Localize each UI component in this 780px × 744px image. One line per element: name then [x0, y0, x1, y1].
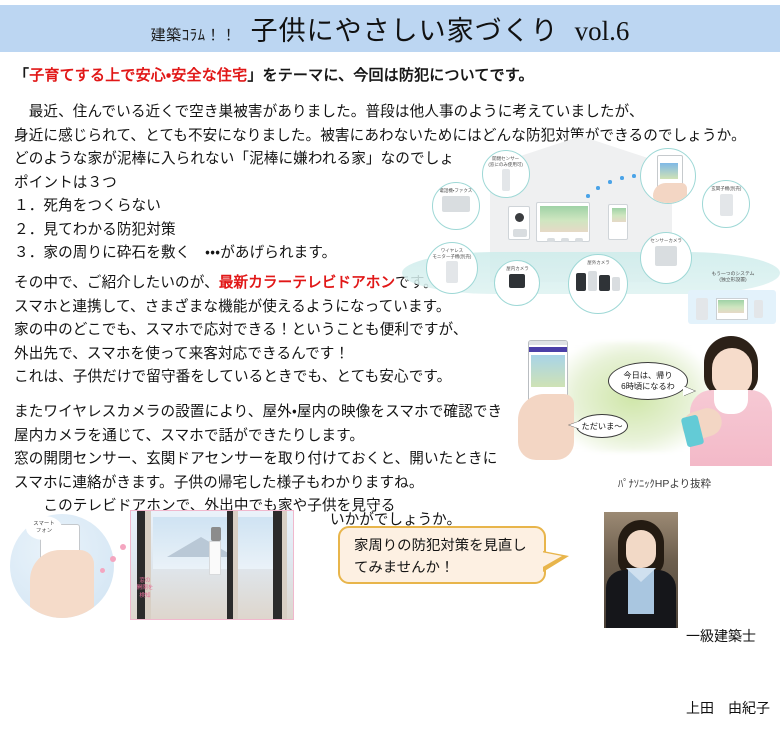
label-outdoor-camera: 屋外カメラ [587, 260, 610, 265]
lede-line: 「子育てする上で安心・安全な住宅」をテーマに、今回は防犯についてです。 [14, 64, 534, 85]
speech-bubble-child: ただいま～ [576, 414, 628, 438]
door-speaker-grille [513, 229, 527, 237]
banner-kicker: 建築ｺﾗﾑ！！ [151, 24, 237, 45]
label-wireless-monitor: ワイヤレス モニター子機(別売) [432, 248, 471, 259]
node-wireless-monitor: ワイヤレス モニター子機(別売) [426, 242, 478, 294]
fax-device-icon [442, 196, 470, 212]
node-entrance-subunit: 玄関子機(別売) [702, 180, 750, 228]
window-sensor-note: 窓の 開閉を 検知 [130, 578, 160, 600]
door-station [508, 206, 530, 240]
page-header-banner: 建築ｺﾗﾑ！！ 子供にやさしい家づくり vol.6 [0, 5, 780, 52]
p3-line-1: またワイヤレスカメラの設置により、屋外・屋内の映像をスマホで確認でき [14, 401, 502, 425]
smartphone-screen [660, 163, 678, 179]
callout-bubble: 家周りの防犯対策を見直してみませんか！ [338, 526, 546, 584]
woman-photo-group [682, 334, 780, 466]
node-open-close-sensor: 開閉センサー (窓にのみ使用可) [482, 150, 530, 198]
p1-line-1: 最近、住んでいる近くで空き巣被害がありました。普段は他人事のように考えていました… [14, 101, 746, 125]
phone-status-bar [529, 341, 567, 345]
sub-monitor-screen [612, 208, 626, 222]
outdoor-camera-icon [576, 273, 586, 291]
p2-line-1: その中で、ご紹介したいのが、最新カラーテレビドアホンです。 [14, 272, 468, 296]
connection-dot [586, 194, 590, 198]
wireless-monitor-icon [446, 261, 458, 283]
author-qualification: 一級建築士 [686, 624, 770, 648]
label-another-system: もう一つのシステム (独立形設置) [688, 272, 778, 284]
window-open-close-sensor [209, 541, 221, 575]
label-entrance-subunit: 玄関子機(別売) [711, 186, 741, 191]
lede-after: をテーマに、今回は [263, 67, 399, 84]
author-portrait [604, 512, 678, 628]
hand-shape [518, 394, 574, 460]
monitor-button [561, 238, 569, 242]
outdoor-camera-group [576, 269, 620, 291]
p2-line-5: これは、子供だけで留守番をしているときでも、とても安心です。 [14, 366, 468, 390]
p2-line-4: 外出先で、スマホを使って来客対応できるんです！ [14, 343, 468, 367]
indoor-camera-icon [509, 274, 525, 288]
woman-collar [714, 390, 748, 414]
lede-topic: 防犯 [399, 67, 429, 84]
window-frame-center-beige [233, 511, 238, 620]
door-camera-lens [515, 213, 524, 222]
speech-bubble-mother: 今日は、帰り 6時頃になるわ [608, 362, 688, 400]
outdoor-camera-icon [588, 271, 597, 291]
sub-handset-icon [754, 300, 763, 318]
paragraph-three: またワイヤレスカメラの設置により、屋外・屋内の映像をスマホで確認でき屋内カメラを… [14, 401, 502, 519]
window-photo [130, 510, 294, 620]
lede-tail: についてです。 [429, 67, 533, 84]
p2-highlight-product: 最新カラーテレビドアホン [219, 275, 395, 291]
node-smartphone [640, 148, 696, 204]
connection-dot [596, 186, 600, 190]
window-frame-mid-beige [145, 511, 151, 620]
p2-line-2: スマホと連携して、さまざまな機能が使えるようになっています。 [14, 296, 468, 320]
author-name: 上田 由紀子 [686, 696, 770, 720]
node-sensor-camera: センサーカメラ [640, 232, 692, 284]
p3-line-4: スマホに連絡がきます。子供の帰宅した様子もわかりますね。 [14, 472, 502, 496]
woman-face [712, 348, 752, 396]
node-telephone-fax: 電話機・ファクス [432, 182, 480, 230]
node-indoor-camera: 屋内カメラ [494, 260, 540, 306]
connection-dot [632, 174, 636, 178]
pink-dot [100, 568, 105, 573]
monitor-button [547, 238, 555, 242]
p2-line-3: 家の中のどこでも、スマホで応対できる！ということも便利ですが、 [14, 319, 468, 343]
page-title: 子供にやさしい家づくり [251, 9, 559, 48]
entrance-subunit-icon [720, 194, 733, 216]
author-signature: 一級建築士 上田 由紀子 [686, 576, 770, 744]
lede-quote-open: 「 [14, 67, 29, 84]
sensor-device-icon [502, 169, 510, 191]
banner-volume: vol.6 [575, 16, 630, 47]
p3-line-3: 窓の開閉センサー、玄関ドアセンサーを取り付けておくと、開いたときに [14, 448, 502, 472]
smartphone-answer-photo: 今日は、帰り 6時頃になるわ ただいま～ [512, 334, 780, 466]
phone-video-feed [531, 355, 565, 387]
monitor-screen [540, 206, 588, 232]
outdoor-camera-icon [599, 275, 610, 291]
wireless-sub-monitor [608, 204, 628, 240]
portrait-face [626, 530, 656, 568]
window-frame-right-beige [282, 511, 287, 620]
sub-monitor-screen-2 [718, 300, 744, 313]
connection-dot [608, 180, 612, 184]
banner-text-group: 建築ｺﾗﾑ！！ 子供にやさしい家づくり vol.6 [151, 9, 630, 48]
home-security-system-diagram: 開閉センサー (窓にのみ使用可) 電話機・ファクス ワイヤレス モニター子機(別… [402, 148, 780, 326]
pink-dot [110, 556, 116, 562]
window-sensor-scene: スマート フォン 窓の 開閉を 検知 [4, 506, 334, 626]
another-system-group [688, 290, 776, 324]
phone-nav-bar [529, 347, 567, 352]
label-sensor-camera: センサーカメラ [650, 238, 682, 243]
lede-quote-close: 」 [247, 67, 262, 84]
callout-line-2: てみませんか！ [354, 557, 544, 579]
label-telephone-fax: 電話機・ファクス [440, 188, 473, 193]
lede-theme-red: 子育てする上で安心・安全な住宅 [29, 67, 247, 84]
source-credit: ﾊﾟﾅｿﾆｯｸHPより抜粋 [618, 476, 711, 491]
label-indoor-camera: 屋内カメラ [506, 266, 529, 271]
hand-shape [653, 183, 687, 203]
window-frame-right [273, 511, 282, 620]
paragraph-two: その中で、ご紹介したいのが、最新カラーテレビドアホンです。スマホと連携して、さま… [14, 272, 468, 390]
outdoor-camera-icon [612, 277, 620, 291]
monitor-button [575, 238, 583, 242]
sensor-camera-icon [655, 246, 677, 266]
node-outdoor-camera: 屋外カメラ [568, 254, 628, 314]
p2-line-1-pre: その中で、ご紹介したいのが、 [14, 275, 219, 291]
neighbor-house-roof [167, 537, 235, 557]
main-monitor [536, 202, 590, 242]
p3-line-2: 屋内カメラを通じて、スマホで話ができたりします。 [14, 425, 502, 449]
label-open-close-sensor: 開閉センサー (窓にのみ使用可) [489, 156, 524, 167]
callout-tail-inner [541, 552, 562, 568]
callout-line-1: 家周りの防犯対策を見直し [354, 535, 544, 557]
window-frame-left [137, 511, 145, 620]
pink-dot [120, 544, 126, 550]
window-lock-handle [211, 527, 221, 541]
hand-holding-phone-group [518, 340, 576, 460]
connection-dot [620, 176, 624, 180]
sub-door-station-icon [696, 298, 708, 320]
